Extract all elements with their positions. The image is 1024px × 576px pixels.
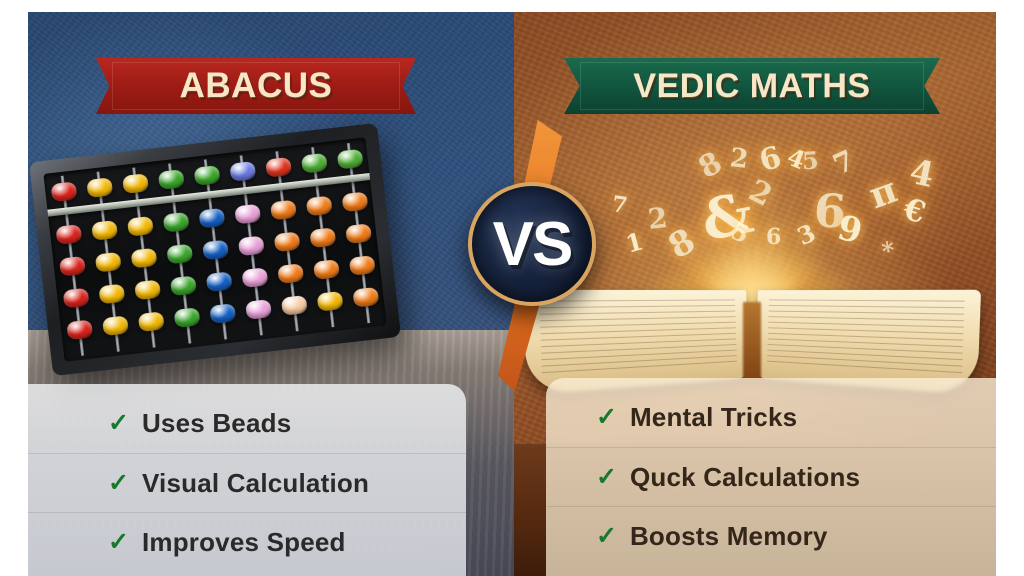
- list-item: ✓ Uses Beads: [28, 394, 466, 453]
- glyph: 5: [801, 146, 819, 176]
- check-icon: ✓: [108, 411, 129, 436]
- abacus-board: [43, 137, 386, 361]
- vedic-feature-card: ✓ Mental Tricks ✓ Quck Calculations ✓ Bo…: [546, 378, 996, 576]
- abacus-illustration: [29, 123, 401, 376]
- open-book: [522, 272, 982, 392]
- abacus-title-ribbon: ABACUS: [96, 58, 416, 114]
- feature-label: Quck Calculations: [630, 462, 860, 493]
- page-text-lines: [540, 299, 738, 378]
- list-item: ✓ Mental Tricks: [546, 388, 996, 447]
- abacus-frame: [29, 123, 401, 376]
- infographic-canvas: 8264574&26π€28715639* ABACUS VEDIC MATHS…: [0, 0, 1024, 576]
- versus-badge: VS: [468, 182, 596, 306]
- list-item: ✓ Boosts Memory: [546, 506, 996, 565]
- check-icon: ✓: [596, 524, 617, 549]
- artwork-stage: 8264574&26π€28715639* ABACUS VEDIC MATHS…: [28, 12, 996, 576]
- glyph: 6: [766, 224, 782, 250]
- page-text-lines: [767, 299, 965, 378]
- list-item: ✓ Quck Calculations: [546, 447, 996, 506]
- versus-label: VS: [493, 209, 572, 280]
- book-spine: [743, 302, 761, 388]
- feature-label: Mental Tricks: [630, 402, 797, 433]
- glyph: 2: [728, 143, 750, 175]
- feature-label: Visual Calculation: [142, 468, 369, 499]
- feature-label: Boosts Memory: [630, 521, 828, 552]
- list-item: ✓ Improves Speed: [28, 512, 466, 571]
- vedic-title-ribbon: VEDIC MATHS: [564, 58, 940, 114]
- abacus-title-text: ABACUS: [180, 66, 333, 106]
- vedic-title-text: VEDIC MATHS: [633, 67, 870, 106]
- check-icon: ✓: [108, 471, 129, 496]
- check-icon: ✓: [596, 465, 617, 490]
- list-item: ✓ Visual Calculation: [28, 453, 466, 512]
- abacus-feature-card: ✓ Uses Beads ✓ Visual Calculation ✓ Impr…: [28, 384, 466, 576]
- check-icon: ✓: [108, 530, 129, 555]
- feature-label: Uses Beads: [142, 408, 291, 439]
- feature-label: Improves Speed: [142, 527, 346, 558]
- check-icon: ✓: [596, 405, 617, 430]
